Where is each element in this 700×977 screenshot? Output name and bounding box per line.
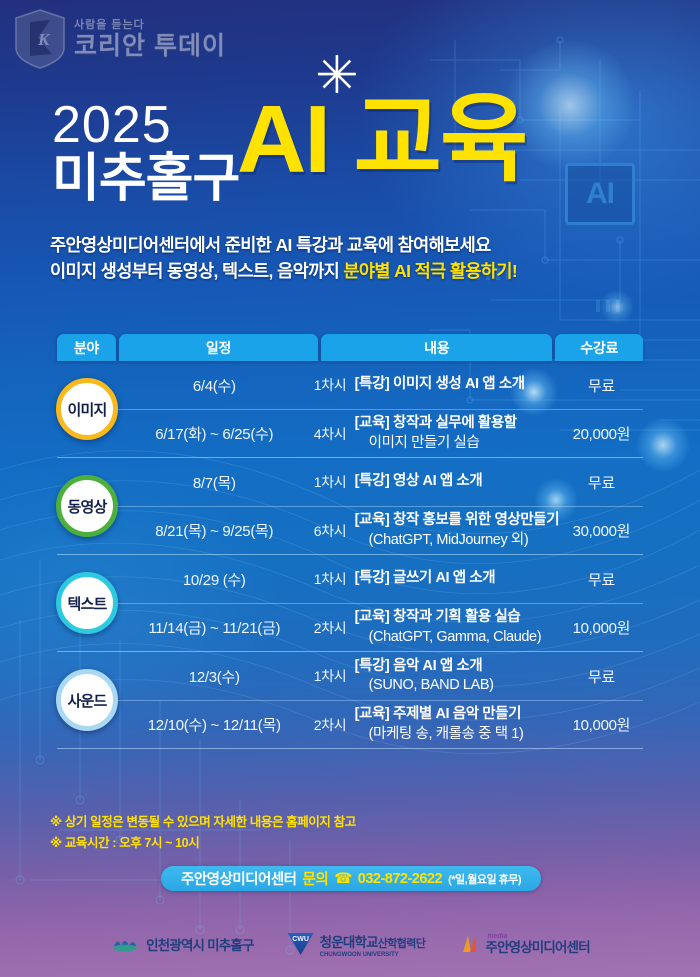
cell-date: 6/17(화) ~ 6/25(수) bbox=[123, 423, 305, 444]
ai-chip-icon: AI bbox=[565, 163, 635, 225]
logo-chungwoon: CWU 청운대학교산학협력단 CHUNGWOON UNIVERSITY bbox=[288, 931, 426, 958]
logo-juan-media: media 주안영상미디어센터 bbox=[459, 933, 590, 955]
table-group: 동영상8/7(목)1차시[특강] 영상 AI 앱 소개무료8/21(목) ~ 9… bbox=[57, 458, 643, 555]
watermark-tagline: 사람을 듣는다 bbox=[74, 20, 226, 31]
logo-chungwoon-label2: 산학협력단 bbox=[378, 938, 426, 950]
category-badge-1: 동영상 bbox=[56, 475, 118, 537]
content-sub: (마케팅 송, 캐롤송 중 택 1) bbox=[355, 725, 560, 744]
title-main: AI 교육 bbox=[237, 92, 526, 188]
content-main: 창작과 실무에 활용할 bbox=[389, 415, 516, 431]
cell-date: 12/3(수) bbox=[123, 666, 305, 687]
cell-sessions: 1차시 bbox=[305, 666, 354, 686]
juan-media-mark-icon bbox=[459, 934, 479, 954]
chungwoon-mark-text: CWU bbox=[292, 936, 309, 943]
table-header-category: 분야 bbox=[57, 334, 116, 361]
table-row: 11/14(금) ~ 11/21(금)2차시[교육] 창작과 기획 활용 실습(… bbox=[57, 603, 643, 651]
subtitle-line-2: 이미지 생성부터 동영상, 텍스트, 음악까지 분야별 AI 적극 활용하기! bbox=[50, 258, 650, 284]
logo-chungwoon-label: 청운대학교 bbox=[320, 935, 378, 950]
cell-sessions: 1차시 bbox=[305, 569, 354, 589]
table-row: 8/7(목)1차시[특강] 영상 AI 앱 소개무료 bbox=[57, 458, 643, 506]
cell-fee: 무료 bbox=[560, 569, 643, 590]
cell-content: [특강] 글쓰기 AI 앱 소개 bbox=[355, 569, 560, 588]
contact-note: (*일,월요일 휴무) bbox=[448, 871, 521, 887]
content-main: 음악 AI 앱 소개 bbox=[389, 658, 482, 674]
content-sub: (ChatGPT, MidJourney 외) bbox=[355, 531, 560, 550]
watermark-logo: K 사람을 듣는다 코리안 투데이 bbox=[12, 8, 226, 70]
cell-date: 11/14(금) ~ 11/21(금) bbox=[123, 617, 305, 638]
chungwoon-mark-icon: CWU bbox=[288, 933, 314, 955]
phone-icon: ☎ bbox=[334, 871, 352, 887]
content-sub: (SUNO, BAND LAB) bbox=[355, 676, 560, 695]
subtitle-line-2-highlight: 분야별 AI 적극 활용하기! bbox=[343, 261, 517, 281]
title-right: ✳ AI 교육 bbox=[237, 92, 526, 188]
subtitle-line-2-plain: 이미지 생성부터 동영상, 텍스트, 음악까지 bbox=[50, 261, 343, 281]
cell-content: [교육] 창작과 기획 활용 실습(ChatGPT, Gamma, Claude… bbox=[355, 608, 560, 646]
korean-today-mark-icon: K bbox=[12, 8, 68, 70]
content-main: 창작 홍보를 위한 영상만들기 bbox=[389, 512, 559, 528]
logo-michuhol-label: 인천광역시 미추홀구 bbox=[146, 934, 254, 954]
content-tag: [교육] bbox=[355, 609, 390, 625]
watermark-brand: 코리안 투데이 bbox=[74, 34, 226, 59]
note-schedule-change: ※ 상기 일정은 변동될 수 있으며 자세한 내용은 홈페이지 참고 bbox=[50, 812, 356, 833]
cell-sessions: 4차시 bbox=[305, 424, 354, 444]
cell-content: [특강] 영상 AI 앱 소개 bbox=[355, 472, 560, 491]
contact-label: 문의 bbox=[303, 868, 329, 889]
cell-content: [특강] 이미지 생성 AI 앱 소개 bbox=[355, 375, 560, 394]
table-row: 12/3(수)1차시[특강] 음악 AI 앱 소개(SUNO, BAND LAB… bbox=[57, 652, 643, 700]
category-badge-0: 이미지 bbox=[56, 378, 118, 440]
cell-fee: 무료 bbox=[560, 666, 643, 687]
cell-fee: 20,000원 bbox=[560, 423, 643, 444]
table-header-row: 분야 일정 내용 수강료 bbox=[57, 334, 643, 361]
cell-content: [교육] 창작 홍보를 위한 영상만들기(ChatGPT, MidJourney… bbox=[355, 511, 560, 549]
cell-fee: 30,000원 bbox=[560, 520, 643, 541]
watermark-text: 사람을 듣는다 코리안 투데이 bbox=[74, 20, 226, 59]
table-group: 이미지6/4(수)1차시[특강] 이미지 생성 AI 앱 소개무료6/17(화)… bbox=[57, 361, 643, 458]
table-group: 텍스트10/29 (수)1차시[특강] 글쓰기 AI 앱 소개무료11/14(금… bbox=[57, 555, 643, 652]
subtitle-block: 주안영상미디어센터에서 준비한 AI 특강과 교육에 참여해보세요 이미지 생성… bbox=[50, 232, 650, 285]
cell-sessions: 6차시 bbox=[305, 521, 354, 541]
cell-date: 12/10(수) ~ 12/11(목) bbox=[123, 714, 305, 735]
logo-chungwoon-text: 청운대학교산학협력단 CHUNGWOON UNIVERSITY bbox=[320, 931, 426, 958]
footer-logos: 인천광역시 미추홀구 CWU 청운대학교산학협력단 CHUNGWOON UNIV… bbox=[0, 925, 700, 963]
cell-fee: 무료 bbox=[560, 375, 643, 396]
contact-phone[interactable]: 032-872-2622 bbox=[358, 871, 442, 887]
glow-node-b bbox=[636, 418, 690, 472]
table-row: 12/10(수) ~ 12/11(목)2차시[교육] 주제별 AI 음악 만들기… bbox=[57, 700, 643, 748]
poster-root: K 사람을 듣는다 코리안 투데이 2025 미추홀구 ✳ AI 교육 AI 주… bbox=[0, 0, 700, 977]
logo-chungwoon-sub: CHUNGWOON UNIVERSITY bbox=[320, 952, 426, 958]
cell-sessions: 1차시 bbox=[305, 472, 354, 492]
notes-block: ※ 상기 일정은 변동될 수 있으며 자세한 내용은 홈페이지 참고 ※ 교육시… bbox=[50, 812, 356, 853]
logo-juan-media-text: media 주안영상미디어센터 bbox=[485, 933, 590, 955]
content-main: 이미지 생성 AI 앱 소개 bbox=[389, 376, 524, 392]
logo-michuhol: 인천광역시 미추홀구 bbox=[110, 933, 254, 955]
cell-fee: 무료 bbox=[560, 472, 643, 493]
content-sub: 이미지 만들기 실습 bbox=[355, 434, 560, 453]
category-badge-2: 텍스트 bbox=[56, 572, 118, 634]
table-header-content: 내용 bbox=[321, 334, 552, 361]
content-sub: (ChatGPT, Gamma, Claude) bbox=[355, 628, 560, 647]
subtitle-line-1: 주안영상미디어센터에서 준비한 AI 특강과 교육에 참여해보세요 bbox=[50, 232, 650, 258]
content-tag: [특강] bbox=[355, 376, 390, 392]
table-header-fee: 수강료 bbox=[555, 334, 643, 361]
cell-sessions: 2차시 bbox=[305, 618, 354, 638]
content-tag: [특강] bbox=[355, 473, 390, 489]
content-tag: [교육] bbox=[355, 512, 390, 528]
svg-text:K: K bbox=[37, 30, 51, 49]
note-class-time: ※ 교육시간 : 오후 7시 ~ 10시 bbox=[50, 833, 356, 854]
glow-node-d bbox=[600, 290, 634, 324]
cell-fee: 10,000원 bbox=[560, 714, 643, 735]
cell-fee: 10,000원 bbox=[560, 617, 643, 638]
title-district: 미추홀구 bbox=[52, 153, 239, 206]
michuhol-mark-icon bbox=[110, 933, 140, 955]
cell-date: 6/4(수) bbox=[123, 375, 305, 396]
contact-org: 주안영상미디어센터 bbox=[181, 868, 297, 889]
table-row: 8/21(목) ~ 9/25(목)6차시[교육] 창작 홍보를 위한 영상만들기… bbox=[57, 506, 643, 554]
cell-date: 8/21(목) ~ 9/25(목) bbox=[123, 520, 305, 541]
content-tag: [교육] bbox=[355, 415, 390, 431]
content-main: 영상 AI 앱 소개 bbox=[389, 473, 482, 489]
content-main: 창작과 기획 활용 실습 bbox=[389, 609, 520, 625]
cell-content: [특강] 음악 AI 앱 소개(SUNO, BAND LAB) bbox=[355, 657, 560, 695]
ai-chip-label: AI bbox=[586, 177, 614, 211]
content-tag: [특강] bbox=[355, 570, 390, 586]
cell-date: 8/7(목) bbox=[123, 472, 305, 493]
schedule-table: 분야 일정 내용 수강료 이미지6/4(수)1차시[특강] 이미지 생성 AI … bbox=[57, 334, 643, 749]
table-row: 10/29 (수)1차시[특강] 글쓰기 AI 앱 소개무료 bbox=[57, 555, 643, 603]
table-body: 이미지6/4(수)1차시[특강] 이미지 생성 AI 앱 소개무료6/17(화)… bbox=[57, 361, 643, 749]
table-row: 6/4(수)1차시[특강] 이미지 생성 AI 앱 소개무료 bbox=[57, 361, 643, 409]
logo-juan-media-label: 주안영상미디어센터 bbox=[485, 941, 590, 955]
content-tag: [특강] bbox=[355, 658, 390, 674]
cell-content: [교육] 창작과 실무에 활용할이미지 만들기 실습 bbox=[355, 414, 560, 452]
table-row: 6/17(화) ~ 6/25(수)4차시[교육] 창작과 실무에 활용할이미지 … bbox=[57, 409, 643, 457]
content-main: 주제별 AI 음악 만들기 bbox=[389, 706, 521, 722]
table-group: 사운드12/3(수)1차시[특강] 음악 AI 앱 소개(SUNO, BAND … bbox=[57, 652, 643, 749]
cell-content: [교육] 주제별 AI 음악 만들기(마케팅 송, 캐롤송 중 택 1) bbox=[355, 705, 560, 743]
cell-date: 10/29 (수) bbox=[123, 569, 305, 590]
cell-sessions: 2차시 bbox=[305, 715, 354, 735]
title-left: 2025 미추홀구 bbox=[52, 100, 239, 206]
asterisk-icon: ✳ bbox=[315, 50, 359, 102]
category-badge-3: 사운드 bbox=[56, 669, 118, 731]
content-main: 글쓰기 AI 앱 소개 bbox=[389, 570, 495, 586]
contact-bar[interactable]: 주안영상미디어센터 문의 ☎032-872-2622 (*일,월요일 휴무) bbox=[161, 866, 541, 891]
table-header-schedule: 일정 bbox=[119, 334, 318, 361]
cell-sessions: 1차시 bbox=[305, 375, 354, 395]
content-tag: [교육] bbox=[355, 706, 390, 722]
title-year: 2025 bbox=[52, 100, 239, 151]
